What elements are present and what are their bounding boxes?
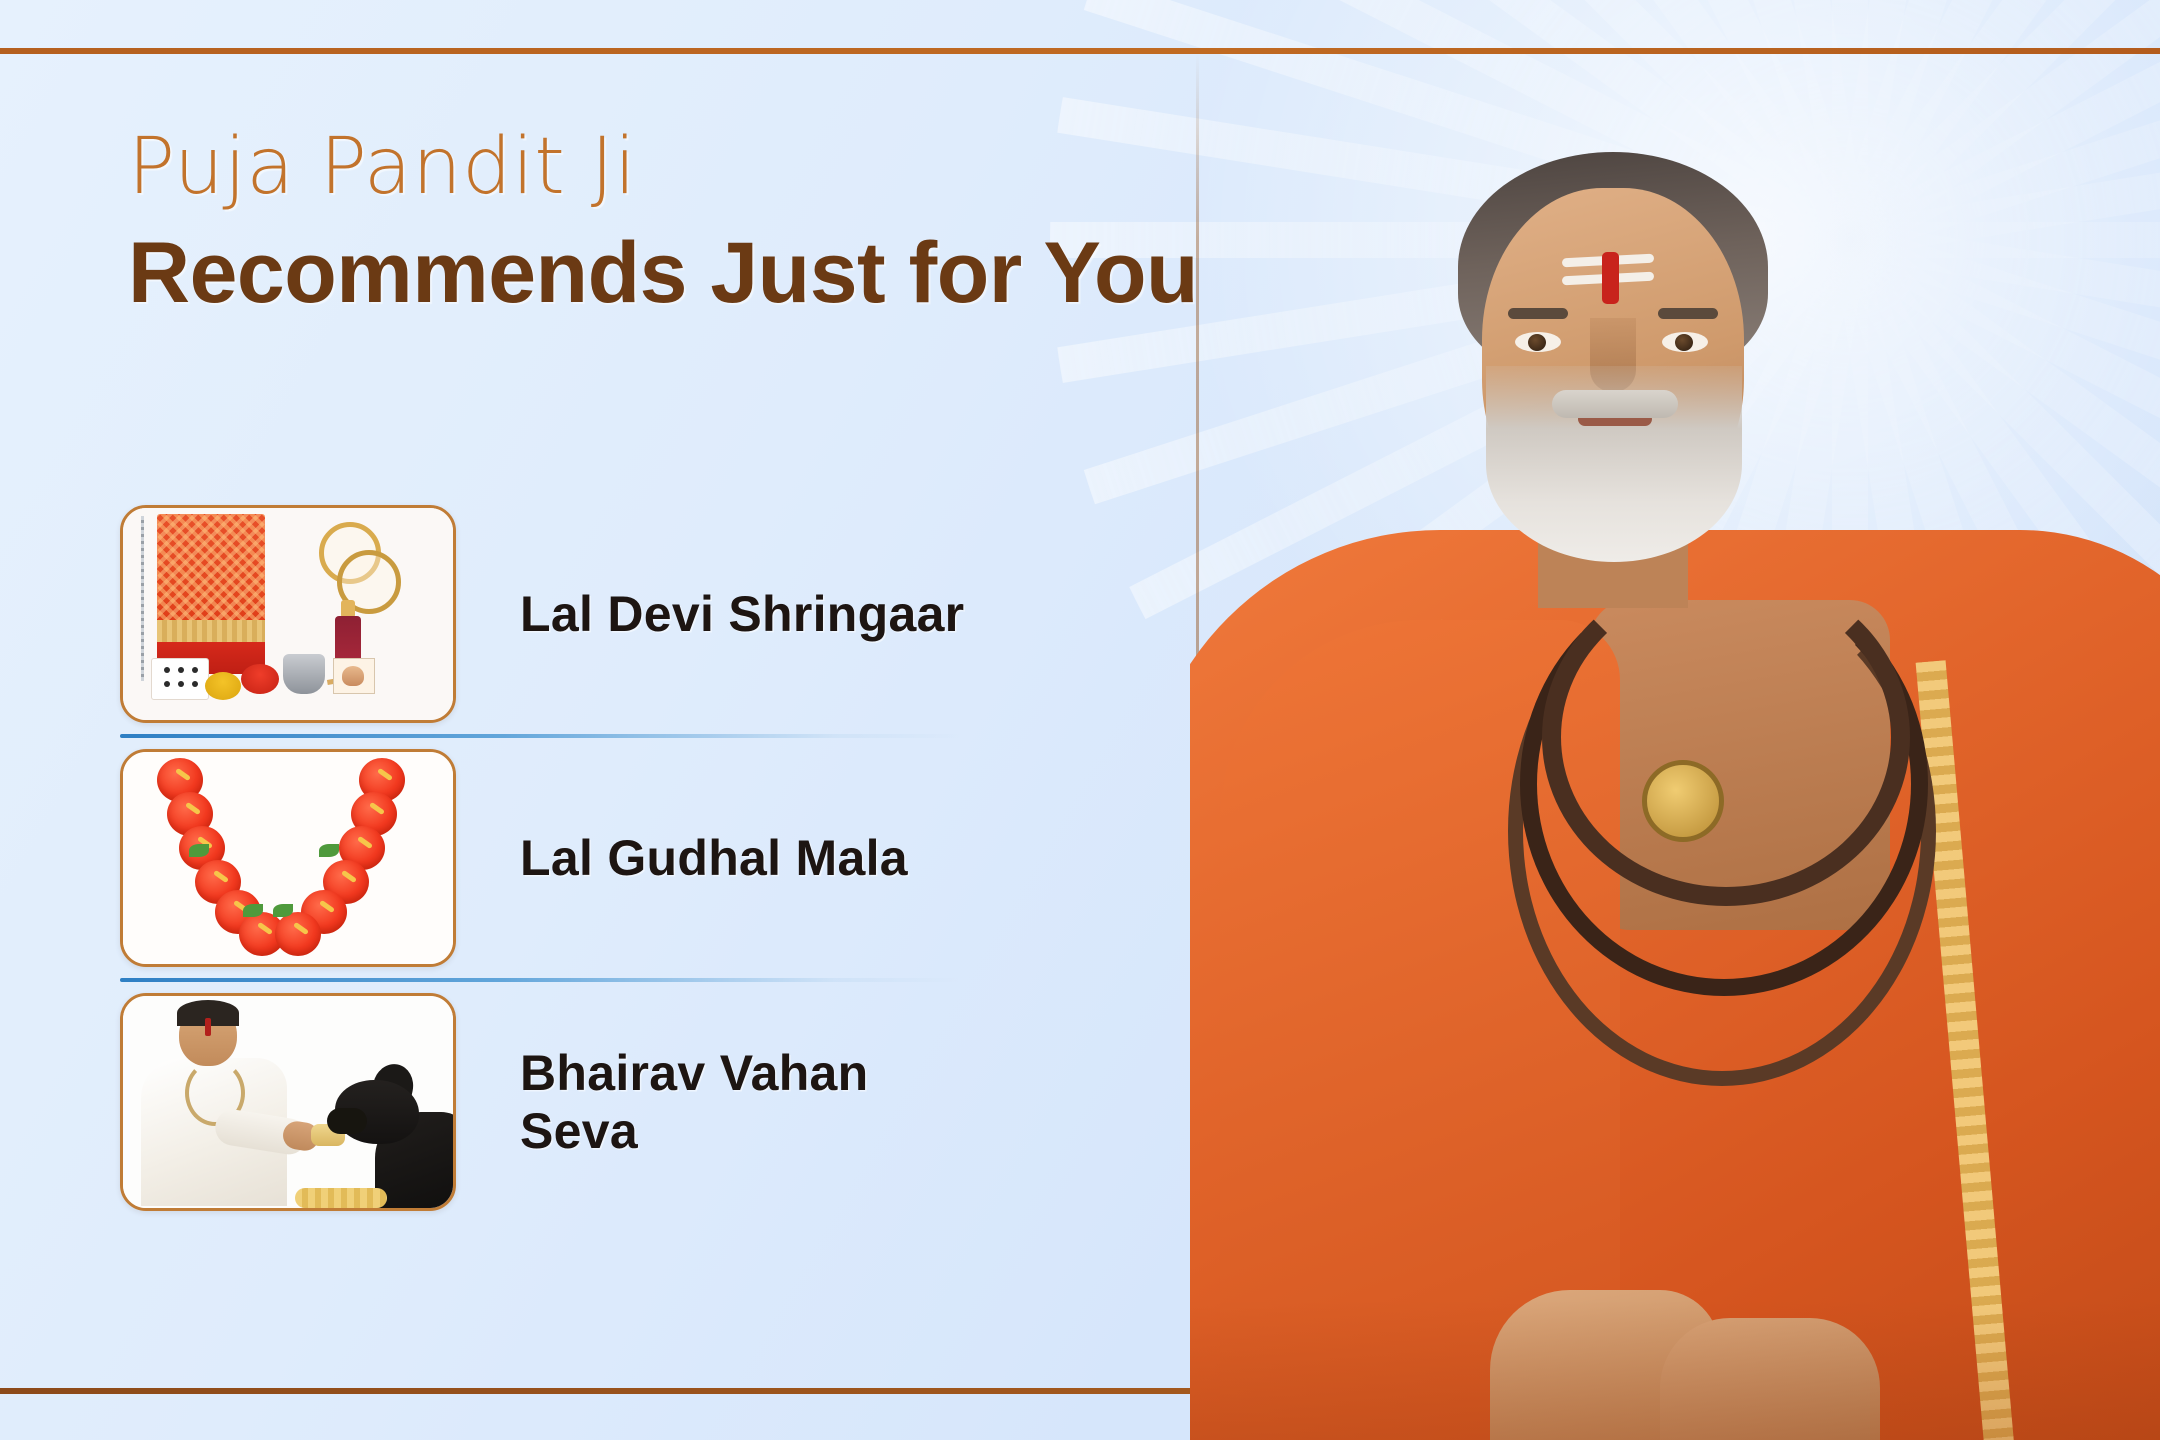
bhairav-vahan-seva-thumbnail[interactable] (120, 993, 456, 1211)
bindi-card-item (151, 658, 209, 700)
pandit-eyebrow (1658, 308, 1718, 319)
top-rule-divider (0, 48, 2160, 54)
pandit-moustache (1552, 390, 1678, 418)
recommendation-list: Lal Devi Shringaar Lal Gudhal Mala (120, 508, 1000, 1208)
priest-feeding-dog-illustration (123, 996, 453, 1208)
pandit-eye (1515, 332, 1561, 352)
haldi-bowl-item (205, 672, 241, 700)
red-tilak-mark (1602, 252, 1619, 304)
silver-chain-item (141, 516, 144, 681)
rudraksha-mala (1542, 568, 1910, 906)
garland-leaf (189, 844, 209, 857)
food-on-ground (295, 1188, 387, 1208)
garland-leaf (273, 904, 293, 917)
row-divider (120, 978, 960, 982)
list-item[interactable]: Lal Devi Shringaar (120, 508, 1000, 720)
steel-lota-item (283, 654, 325, 694)
portrait-shadow (1190, 1300, 2160, 1440)
list-item-label: Lal Devi Shringaar (520, 585, 964, 643)
garland-leaf (319, 844, 339, 857)
shringaar-kit-illustration (123, 508, 453, 720)
deity-picture-item (333, 658, 375, 694)
saree-gold-border (157, 620, 265, 642)
dog-snout (327, 1108, 367, 1134)
heading-line-1: Puja Pandit Ji (128, 128, 1198, 206)
lal-gudhal-mala-thumbnail[interactable] (120, 749, 456, 967)
priest-tilak (205, 1018, 211, 1036)
banner-heading-block: Puja Pandit Ji Recommends Just for You (128, 128, 1198, 318)
lal-devi-shringaar-thumbnail[interactable] (120, 505, 456, 723)
list-item[interactable]: Lal Gudhal Mala (120, 752, 1000, 964)
recommendation-banner: Puja Pandit Ji Recommends Just for You (0, 0, 2160, 1440)
list-item-label: Bhairav Vahan Seva (520, 1044, 1000, 1160)
pandit-portrait (1190, 60, 2160, 1440)
kumkum-bowl-item (241, 664, 279, 694)
row-divider (120, 734, 960, 738)
pandit-eye (1662, 332, 1708, 352)
heading-line-2: Recommends Just for You (128, 228, 1198, 318)
list-item-label: Lal Gudhal Mala (520, 829, 908, 887)
pandit-eyebrow (1508, 308, 1568, 319)
hibiscus-garland-illustration (123, 752, 453, 964)
mala-pendant (1642, 760, 1724, 842)
garland-leaf (243, 904, 263, 917)
bandhani-saree-item (157, 514, 265, 626)
hibiscus-flower (275, 912, 321, 956)
list-item[interactable]: Bhairav Vahan Seva (120, 996, 1000, 1208)
